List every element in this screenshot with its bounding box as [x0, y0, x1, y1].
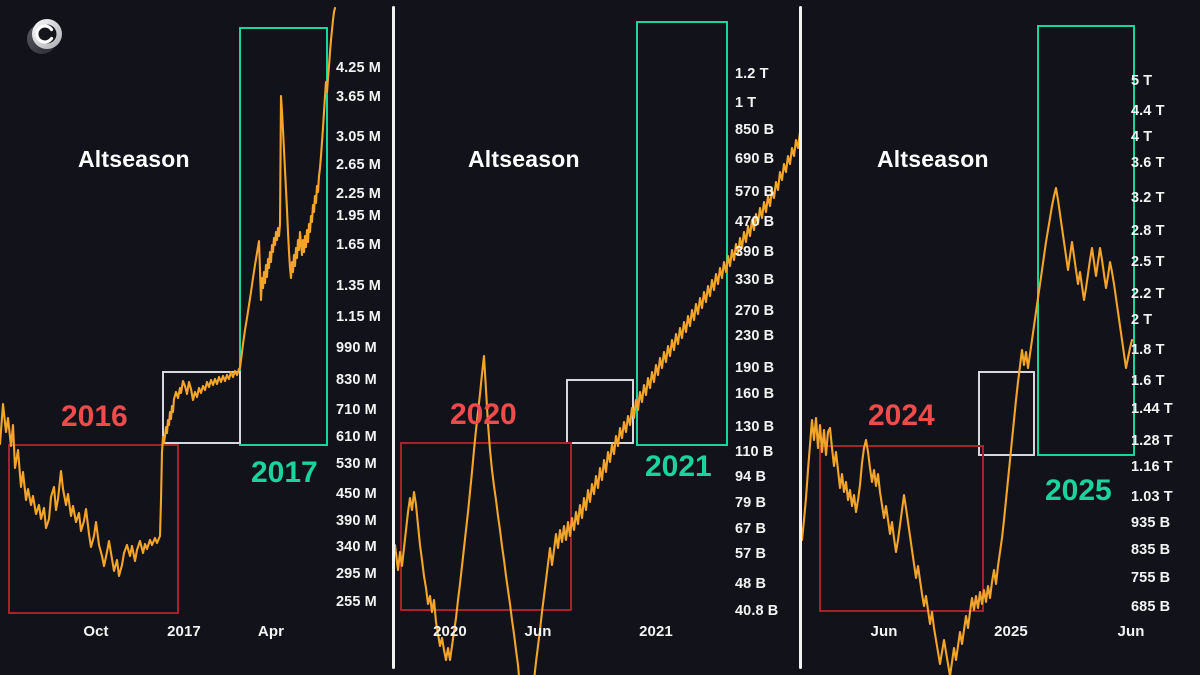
x-tick-label: Oct	[83, 623, 108, 640]
price-line-2024-2025	[802, 188, 1132, 675]
y-tick-label: 57 B	[735, 546, 766, 562]
bear-year-label-2020: 2020	[450, 398, 517, 432]
y-tick-label: 690 B	[735, 151, 774, 167]
y-tick-label: 935 B	[1131, 515, 1170, 531]
y-tick-label: 340 M	[336, 539, 377, 555]
y-tick-label: 1.65 M	[336, 237, 381, 253]
y-tick-label: 1.8 T	[1131, 342, 1165, 358]
bear-year-label-2024: 2024	[868, 399, 935, 433]
y-tick-label: 270 B	[735, 303, 774, 319]
y-tick-label: 190 B	[735, 360, 774, 376]
y-tick-label: 830 M	[336, 372, 377, 388]
panel-2016-2017: Altseason 2016 2017 4.25 M3.65 M3.05 M2.…	[0, 0, 392, 675]
panel-2024-2025: Altseason 2024 2025 5 T4.4 T4 T3.6 T3.2 …	[802, 0, 1200, 675]
y-tick-label: 610 M	[336, 429, 377, 445]
bear-box-2016	[9, 445, 178, 613]
y-tick-label: 330 B	[735, 272, 774, 288]
y-tick-label: 990 M	[336, 340, 377, 356]
y-tick-label: 79 B	[735, 495, 766, 511]
y-tick-label: 3.6 T	[1131, 155, 1165, 171]
bear-year-label-2016: 2016	[61, 400, 128, 434]
panel-title-2020-2021: Altseason	[468, 146, 580, 173]
y-tick-label: 4.4 T	[1131, 103, 1165, 119]
y-tick-label: 110 B	[735, 444, 773, 460]
y-tick-label: 3.65 M	[336, 89, 381, 105]
chart-canvas: Altseason 2016 2017 4.25 M3.65 M3.05 M2.…	[0, 0, 1200, 675]
y-tick-label: 1.6 T	[1131, 373, 1165, 389]
bull-year-label-2021: 2021	[645, 450, 712, 484]
x-tick-label: Jun	[1118, 623, 1145, 640]
y-tick-label: 1.35 M	[336, 278, 381, 294]
y-tick-label: 3.05 M	[336, 129, 381, 145]
plot-area-2016-2017	[0, 0, 392, 675]
y-tick-label: 710 M	[336, 402, 377, 418]
panel-title-2024-2025: Altseason	[877, 146, 989, 173]
y-tick-label: 295 M	[336, 566, 377, 582]
panel-2020-2021: Altseason 2020 2021 1.2 T1 T850 B690 B57…	[395, 0, 799, 675]
y-tick-label: 230 B	[735, 328, 774, 344]
y-tick-label: 40.8 B	[735, 603, 778, 619]
y-tick-label: 48 B	[735, 576, 766, 592]
x-tick-label: Jun	[525, 623, 552, 640]
altseason-box-2025	[1038, 26, 1134, 455]
y-tick-label: 1.95 M	[336, 208, 381, 224]
y-tick-label: 3.2 T	[1131, 190, 1165, 206]
y-tick-label: 570 B	[735, 184, 774, 200]
y-tick-label: 160 B	[735, 386, 774, 402]
y-tick-label: 1.16 T	[1131, 459, 1173, 475]
y-tick-label: 2.65 M	[336, 157, 381, 173]
transition-box-2025	[979, 372, 1034, 455]
y-tick-label: 755 B	[1131, 570, 1170, 586]
y-tick-label: 835 B	[1131, 542, 1170, 558]
altseason-box-2017	[240, 28, 327, 445]
bull-year-label-2025: 2025	[1045, 474, 1112, 508]
y-tick-label: 130 B	[735, 419, 774, 435]
y-tick-label: 685 B	[1131, 599, 1170, 615]
x-tick-label: 2021	[639, 623, 673, 640]
y-tick-label: 2.25 M	[336, 186, 381, 202]
y-tick-label: 1.03 T	[1131, 489, 1173, 505]
y-tick-label: 255 M	[336, 594, 377, 610]
x-tick-label: 2020	[433, 623, 467, 640]
y-tick-label: 67 B	[735, 521, 766, 537]
panel-title-2016-2017: Altseason	[78, 146, 190, 173]
y-tick-label: 530 M	[336, 456, 377, 472]
transition-box-2017	[163, 372, 240, 443]
y-tick-label: 390 B	[735, 244, 774, 260]
y-tick-label: 1 T	[735, 95, 756, 111]
bull-year-label-2017: 2017	[251, 456, 318, 490]
y-tick-label: 450 M	[336, 486, 377, 502]
y-tick-label: 2 T	[1131, 312, 1152, 328]
y-tick-label: 850 B	[735, 122, 774, 138]
y-tick-label: 1.2 T	[735, 66, 769, 82]
y-tick-label: 4 T	[1131, 129, 1152, 145]
y-tick-label: 1.44 T	[1131, 401, 1173, 417]
y-tick-label: 2.8 T	[1131, 223, 1165, 239]
y-tick-label: 94 B	[735, 469, 766, 485]
y-tick-label: 5 T	[1131, 73, 1152, 89]
y-tick-label: 1.15 M	[336, 309, 381, 325]
y-tick-label: 4.25 M	[336, 60, 381, 76]
x-tick-label: 2017	[167, 623, 201, 640]
y-tick-label: 470 B	[735, 214, 774, 230]
x-tick-label: 2025	[994, 623, 1028, 640]
x-tick-label: Jun	[871, 623, 898, 640]
y-tick-label: 1.28 T	[1131, 433, 1173, 449]
y-tick-label: 390 M	[336, 513, 377, 529]
x-tick-label: Apr	[258, 623, 284, 640]
y-tick-label: 2.5 T	[1131, 254, 1165, 270]
y-tick-label: 2.2 T	[1131, 286, 1165, 302]
price-line-2016-2017	[0, 8, 335, 576]
bear-box-2024	[820, 446, 983, 611]
